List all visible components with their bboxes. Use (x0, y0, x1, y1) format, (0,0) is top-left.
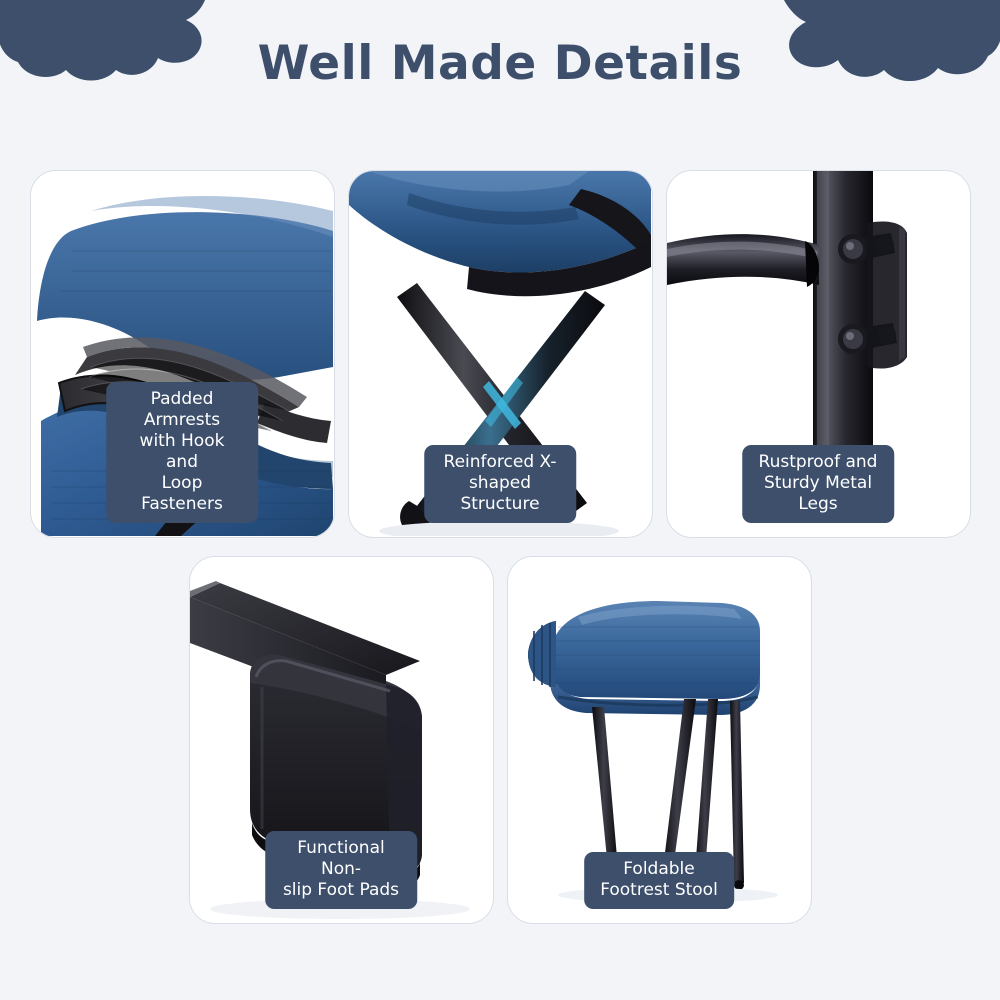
card-footrest-stool: Foldable Footrest Stool (507, 556, 812, 924)
card-padded-armrests: Padded Armrests with Hook and Loop Faste… (30, 170, 335, 538)
card-caption-metal-legs: Rustproof and Sturdy Metal Legs (742, 445, 894, 523)
card-caption-padded-armrests: Padded Armrests with Hook and Loop Faste… (106, 382, 258, 523)
page-title: Well Made Details (0, 36, 1000, 91)
card-caption-x-shaped-structure: Reinforced X-shaped Structure (424, 445, 576, 523)
card-metal-legs: Rustproof and Sturdy Metal Legs (666, 170, 971, 538)
card-caption-footrest-stool: Foldable Footrest Stool (584, 852, 734, 909)
card-x-shaped-structure: Reinforced X-shaped Structure (348, 170, 653, 538)
detail-cards-grid: Padded Armrests with Hook and Loop Faste… (0, 170, 1000, 924)
card-caption-foot-pads: Functional Non- slip Foot Pads (265, 831, 417, 909)
card-foot-pads: Functional Non- slip Foot Pads (189, 556, 494, 924)
